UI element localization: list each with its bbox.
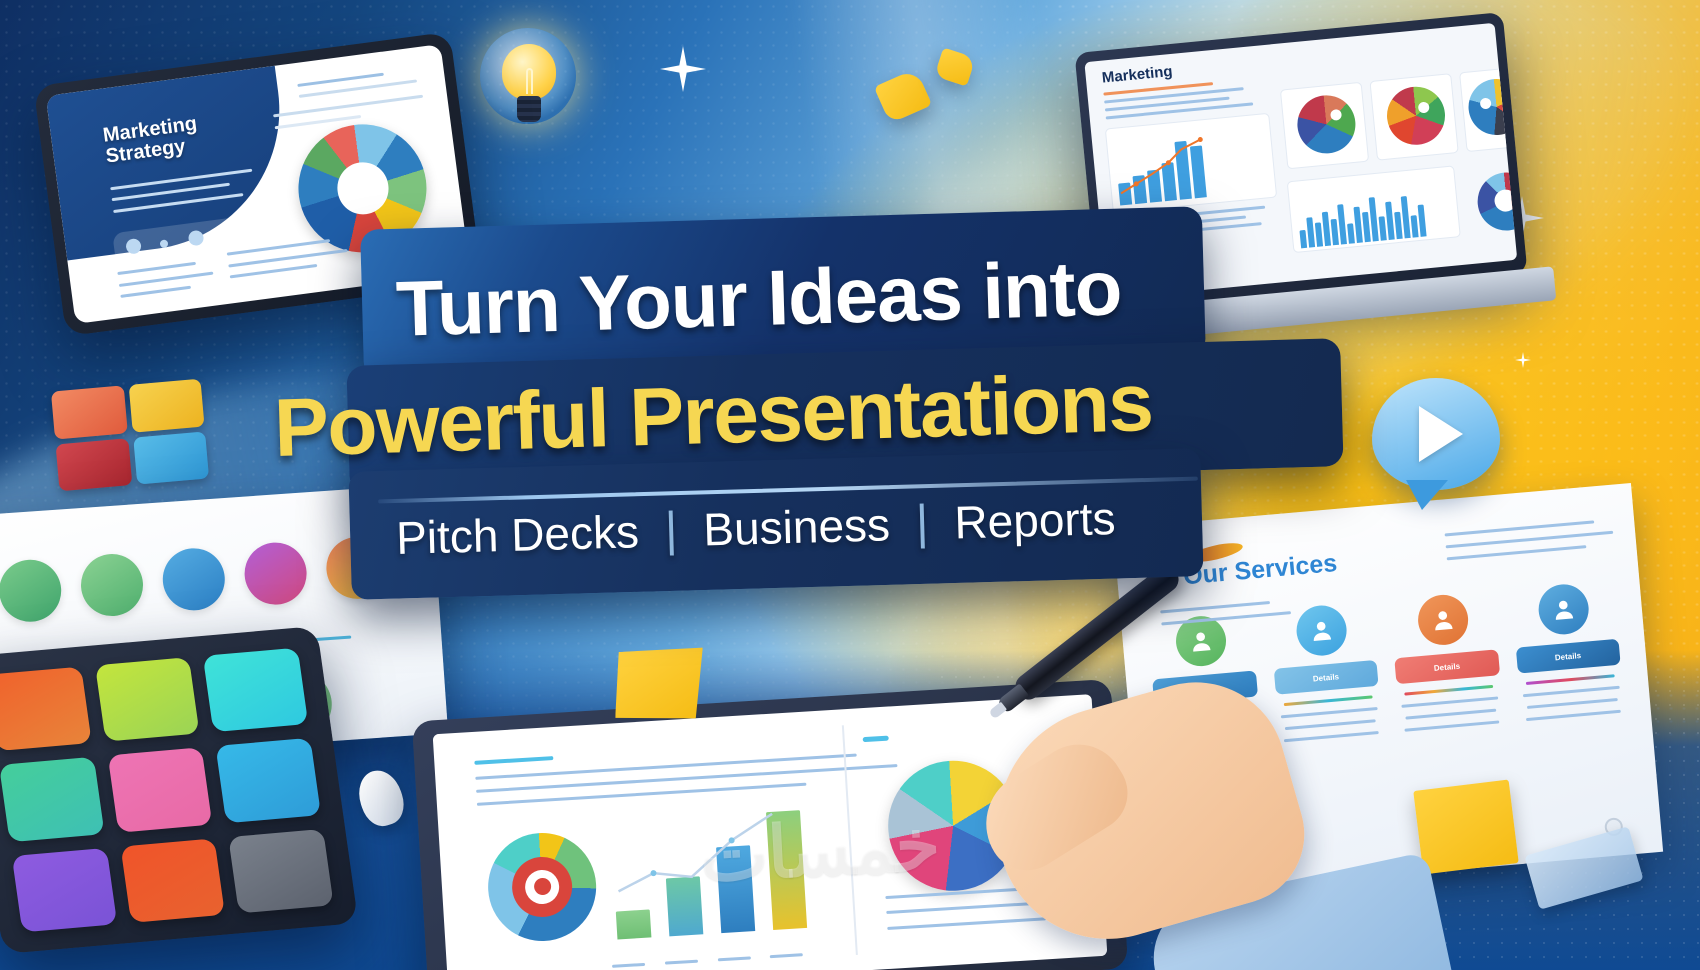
slide-body-line bbox=[119, 271, 214, 286]
swatch-6[interactable] bbox=[216, 738, 321, 823]
service-line bbox=[1526, 710, 1621, 721]
circle-3 bbox=[161, 546, 227, 612]
lightbulb-filament bbox=[526, 68, 533, 94]
hand-icon bbox=[985, 640, 1405, 970]
slide-body-line bbox=[120, 286, 191, 298]
swatch-5[interactable] bbox=[107, 748, 212, 833]
service-line bbox=[1526, 674, 1615, 685]
swatch-9[interactable] bbox=[229, 829, 334, 914]
four-tile-grid bbox=[51, 379, 209, 492]
tile-2 bbox=[128, 379, 204, 433]
services-title: Our Services bbox=[1182, 525, 1611, 591]
slide-badge-icon bbox=[159, 239, 168, 248]
service-line bbox=[1401, 696, 1498, 707]
report-axis-label bbox=[612, 963, 645, 968]
circle-1 bbox=[0, 558, 63, 624]
lightbulb-icon bbox=[480, 28, 576, 124]
slide-header-line bbox=[273, 95, 423, 118]
service-button[interactable]: Details bbox=[1515, 639, 1620, 674]
user-avatar-icon bbox=[1537, 582, 1591, 636]
donut-chart bbox=[485, 830, 599, 944]
color-swatch-grid bbox=[0, 648, 334, 933]
swatch-7[interactable] bbox=[12, 847, 117, 932]
play-bubble-icon[interactable] bbox=[1372, 378, 1500, 490]
service-card[interactable]: Details bbox=[1510, 580, 1625, 722]
tile-4 bbox=[133, 431, 209, 485]
report-axis-label bbox=[770, 953, 803, 958]
poster-canvas: Marketing Strategy bbox=[0, 0, 1700, 970]
service-line bbox=[1406, 709, 1497, 720]
lightbulb-base bbox=[517, 96, 541, 122]
service-line bbox=[1405, 685, 1494, 696]
dashboard-title: Marketing bbox=[1101, 63, 1173, 87]
swatch-8[interactable] bbox=[120, 838, 225, 923]
watermark: خمسات bbox=[698, 802, 942, 898]
bar-1 bbox=[615, 909, 651, 939]
service-line bbox=[1405, 720, 1500, 731]
swatch-1[interactable] bbox=[0, 667, 91, 752]
swatch-3[interactable] bbox=[203, 648, 308, 733]
service-card[interactable]: Details bbox=[1389, 591, 1504, 733]
service-line bbox=[1522, 686, 1619, 697]
play-triangle-icon bbox=[1419, 406, 1463, 462]
service-button[interactable]: Details bbox=[1394, 649, 1499, 684]
tile-1 bbox=[51, 385, 127, 439]
report-line bbox=[476, 764, 898, 793]
donut-chart bbox=[1475, 170, 1517, 233]
report-axis-label bbox=[717, 956, 750, 961]
column-chart bbox=[1296, 179, 1427, 249]
tablet-color-swatches[interactable] bbox=[0, 626, 358, 954]
swatch-4[interactable] bbox=[0, 757, 104, 842]
trend-line bbox=[1114, 132, 1219, 201]
report-line bbox=[863, 735, 890, 742]
service-line bbox=[1527, 698, 1618, 709]
donut-hole bbox=[334, 160, 391, 217]
swatch-2[interactable] bbox=[95, 657, 200, 742]
pen-tip bbox=[988, 702, 1007, 720]
user-avatar-icon bbox=[1416, 593, 1470, 647]
circle-4 bbox=[243, 541, 309, 607]
sticky-note-icon bbox=[615, 643, 703, 727]
tile-3 bbox=[56, 438, 132, 492]
slide-body-line bbox=[230, 264, 317, 278]
headline-card-bottom bbox=[348, 448, 1203, 600]
circle-2 bbox=[79, 552, 145, 618]
report-line bbox=[474, 756, 553, 765]
report-axis-label bbox=[665, 960, 698, 965]
sticky-note-icon bbox=[1413, 779, 1519, 874]
